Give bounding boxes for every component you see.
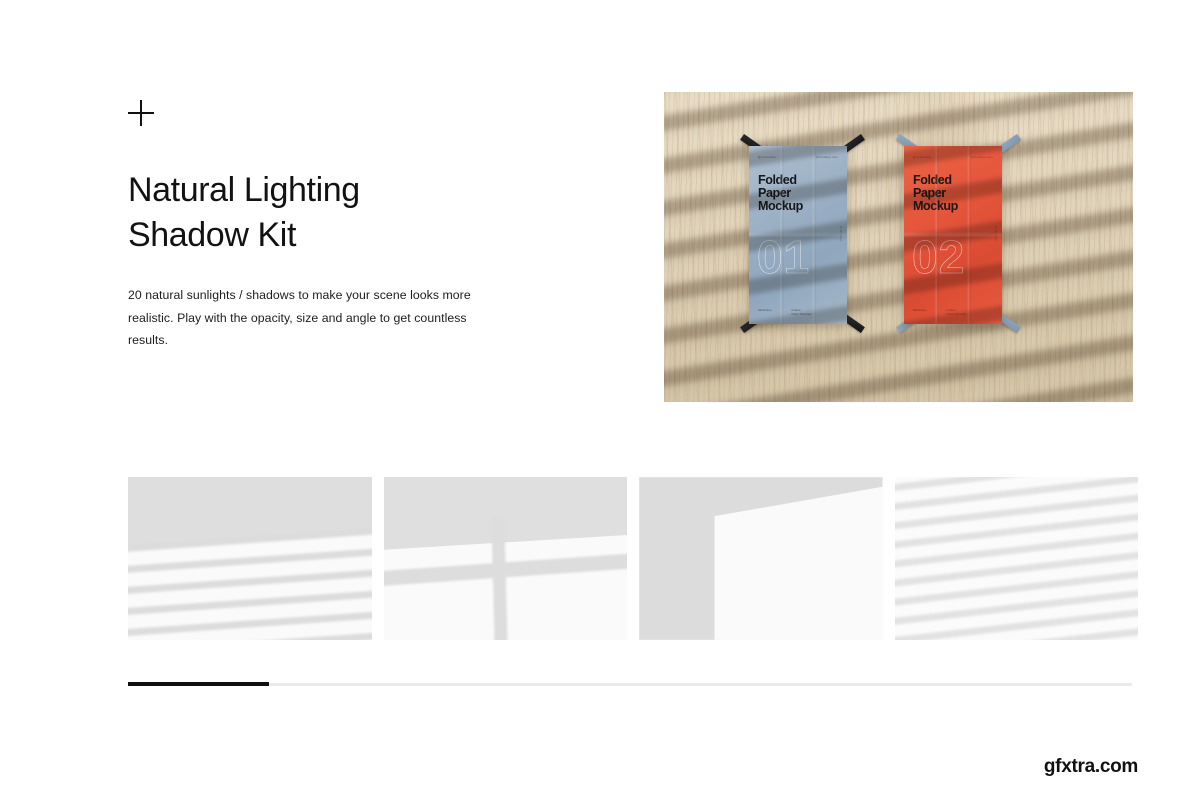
poster-01[interactable]: @mrmockup mrmockup.com Folded Paper Mock… — [749, 146, 847, 324]
poster-02-number: 02 — [912, 234, 965, 280]
thumbnail-blinds-top-block[interactable] — [128, 477, 372, 640]
poster-02-meta-bottom: MrMockup Folded Paper Mockups — [913, 308, 993, 316]
poster-01-side-text: mrmockup — [839, 226, 842, 241]
page-title: Natural Lighting Shadow Kit — [128, 168, 528, 258]
poster-02-side-text: mrmockup — [994, 226, 997, 241]
hero-image: @mrmockup mrmockup.com Folded Paper Mock… — [664, 92, 1133, 402]
poster-01-meta-bottom: MrMockup Folded Paper Mockups — [758, 308, 838, 316]
shadow-corner — [639, 477, 883, 640]
slide-progress-fill — [128, 682, 269, 686]
poster-02-category: Folded Paper Mockups — [947, 308, 967, 316]
poster-01-url: mrmockup.com — [816, 155, 838, 159]
poster-01-category: Folded Paper Mockups — [792, 308, 812, 316]
poster-02-meta-top: @mrmockup mrmockup.com — [913, 155, 993, 159]
poster-02[interactable]: @mrmockup mrmockup.com Folded Paper Mock… — [904, 146, 1002, 324]
poster-02-handle: @mrmockup — [913, 155, 931, 159]
poster-02-title: Folded Paper Mockup — [913, 174, 993, 212]
watermark: gfxtra.com — [1044, 756, 1138, 778]
thumbnail-strip — [128, 477, 1138, 640]
thumbnail-door-corner[interactable] — [639, 477, 883, 640]
poster-01-title: Folded Paper Mockup — [758, 174, 838, 212]
poster-01-number: 01 — [757, 234, 810, 280]
poster-02-url: mrmockup.com — [971, 155, 993, 159]
slide-progress-track[interactable] — [128, 683, 1132, 686]
thumbnail-window-cross[interactable] — [384, 477, 628, 640]
copy-block: Natural Lighting Shadow Kit 20 natural s… — [128, 100, 528, 352]
plus-icon — [128, 100, 154, 126]
slide-canvas: Natural Lighting Shadow Kit 20 natural s… — [0, 0, 1200, 800]
page-description: 20 natural sunlights / shadows to make y… — [128, 284, 504, 352]
poster-01-brand: MrMockup — [758, 308, 772, 316]
poster-01-meta-top: @mrmockup mrmockup.com — [758, 155, 838, 159]
shadow-stripes — [128, 526, 372, 640]
poster-02-brand: MrMockup — [913, 308, 927, 316]
thumbnail-full-blinds[interactable] — [895, 477, 1139, 640]
shadow-stripes — [895, 477, 1139, 640]
poster-01-handle: @mrmockup — [758, 155, 776, 159]
